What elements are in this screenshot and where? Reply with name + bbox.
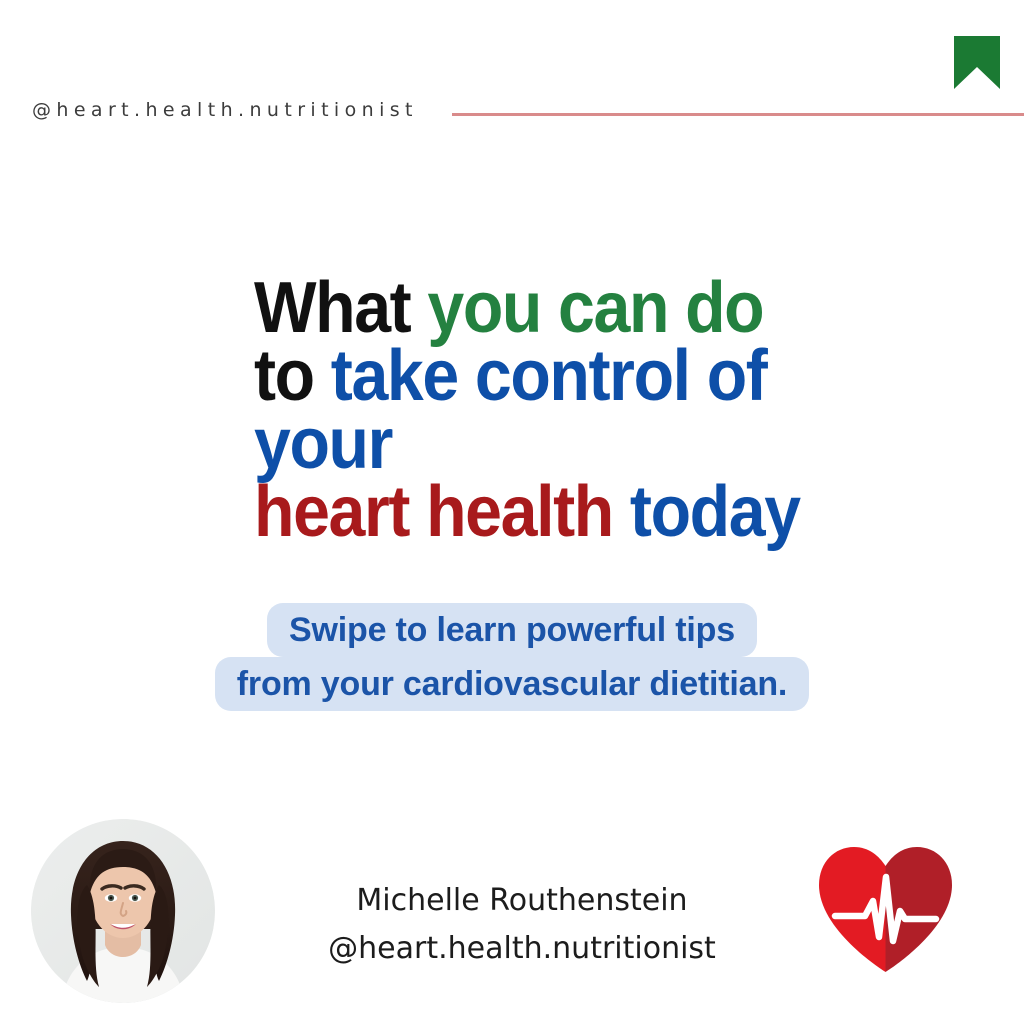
header-divider [452,113,1024,116]
headline-line-4: heart health today [254,478,898,546]
subtitle-callout: Swipe to learn powerful tips from your c… [0,603,1024,711]
subtitle-line-1-text: Swipe to learn powerful tips [267,603,757,657]
subtitle-line-2-text: from your cardiovascular dietitian. [215,657,809,711]
post-canvas: @heart.health.nutritionist What you can … [0,0,1024,1024]
headline-line-1: What you can do [254,274,898,342]
footer-handle: @heart.health.nutritionist [262,925,782,973]
subtitle-line-1: Swipe to learn powerful tips [0,603,1024,657]
headline-seg-today: today [630,472,800,552]
footer-identity: Michelle Routhenstein @heart.health.nutr… [262,877,782,973]
headline-seg-take-control-of: take control of [331,336,767,416]
footer-name: Michelle Routhenstein [262,877,782,925]
headline-line-2: to take control of [254,342,898,410]
headline-seg-heart-health: heart health [254,472,630,552]
headline: What you can do to take control of your … [254,274,954,546]
headline-line-3: your [254,410,898,478]
header-handle: @heart.health.nutritionist [32,99,418,121]
bookmark-icon[interactable] [954,36,1000,89]
heart-pulse-icon [813,841,958,975]
avatar [31,819,215,1003]
subtitle-line-2: from your cardiovascular dietitian. [0,657,1024,711]
